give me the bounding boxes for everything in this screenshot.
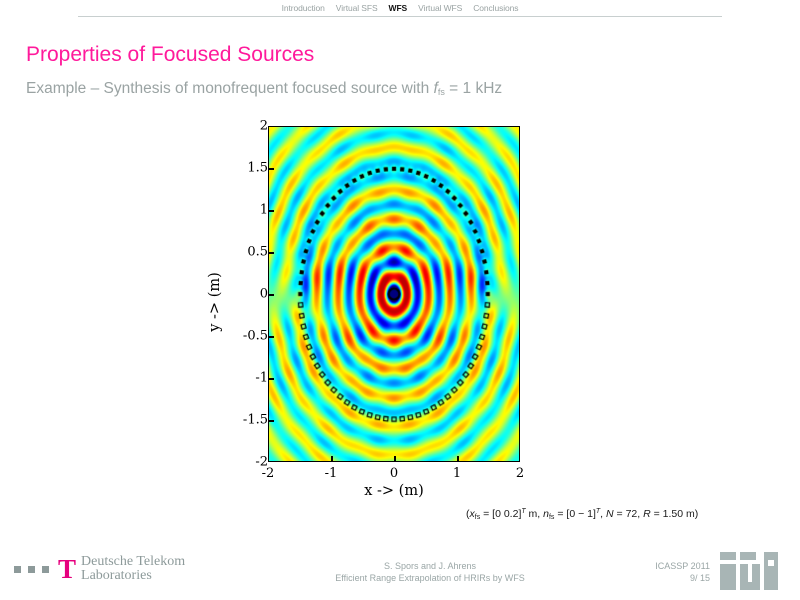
footer-center: S. Spors and J. Ahrens Efficient Range E…: [250, 560, 610, 584]
ytick-label-1: 1: [228, 203, 268, 218]
subtitle-text-after: = 1 kHz: [445, 80, 502, 97]
page-subtitle: Example – Synthesis of monofrequent focu…: [26, 80, 502, 98]
nav-item-wfs[interactable]: WFS: [389, 2, 408, 14]
footer-right: ICASSP 2011 9/ 15: [600, 560, 710, 584]
logo-line-2: Laboratories: [81, 569, 185, 583]
xtick-label--2: -2: [248, 466, 288, 481]
xtick-mark-1: [457, 456, 459, 462]
logo-square-icon-2: [28, 566, 35, 573]
ytick-mark-0: [268, 294, 274, 296]
xtick-mark--1: [331, 456, 333, 462]
logo-wordmark: Deutsche Telekom Laboratories: [81, 555, 185, 583]
nav-item-conclusions[interactable]: Conclusions: [473, 2, 518, 14]
ytick-label--0.5: -0.5: [228, 329, 268, 344]
logo-square-icon-1: [14, 566, 21, 573]
ytick-mark--1.5: [268, 420, 274, 422]
deutsche-telekom-logo: T Deutsche Telekom Laboratories: [14, 552, 185, 586]
subtitle-symbol-subscript: fs: [438, 87, 445, 97]
caption-N-symbol: N: [606, 508, 614, 520]
footer-page-number: 9/ 15: [600, 572, 710, 584]
wavefield-heatmap: [269, 127, 519, 461]
logo-line-1: Deutsche Telekom: [81, 555, 185, 569]
caption-R-symbol: R: [643, 508, 651, 520]
ytick-label--1.5: -1.5: [228, 413, 268, 428]
figure-caption: (xfs = [0 0.2]T m, nfs = [0 − 1]T, N = 7…: [466, 508, 698, 521]
y-axis-label: y -> (m): [207, 247, 223, 357]
nav-item-introduction[interactable]: Introduction: [282, 2, 325, 14]
xtick-label-1: 1: [437, 466, 477, 481]
xtick-label--1: -1: [311, 466, 351, 481]
nav-item-virtual-sfs[interactable]: Virtual SFS: [336, 2, 378, 14]
ytick-mark--1: [268, 378, 274, 380]
page-title: Properties of Focused Sources: [26, 43, 314, 67]
ytick-mark-0.5: [268, 252, 274, 254]
ytick-label-2: 2: [228, 119, 268, 134]
caption-unit1: m,: [526, 508, 544, 520]
wavefield-figure: 2 1.5 1 0.5 0 -0.5 -1 -1.5 -2 -2 -1 0 1 …: [180, 118, 620, 508]
slide-navigation: Introduction Virtual SFS WFS Virtual WFS…: [0, 0, 800, 20]
footer-conference: ICASSP 2011: [600, 560, 710, 572]
xtick-label-2: 2: [500, 466, 540, 481]
ytick-label--1: -1: [228, 371, 268, 386]
navigation-divider: [78, 16, 722, 17]
xtick-mark-0: [394, 456, 396, 462]
ytick-label-0: 0: [228, 287, 268, 302]
ytick-mark-1: [268, 210, 274, 212]
caption-R-value: = 1.50 m): [651, 508, 699, 520]
logo-square-icon-3: [42, 566, 49, 573]
plot-area: [268, 126, 520, 462]
caption-eq1: = [0 0.2]: [480, 508, 521, 520]
caption-N-value: = 72,: [614, 508, 643, 520]
xtick-label-0: 0: [374, 466, 414, 481]
caption-eq2: = [0 − 1]: [554, 508, 595, 520]
ytick-mark--0.5: [268, 336, 274, 338]
tu-berlin-logo-icon: [718, 548, 780, 594]
footer-authors: S. Spors and J. Ahrens: [250, 560, 610, 572]
subtitle-text-before: Example – Synthesis of monofrequent focu…: [26, 80, 434, 97]
telekom-t-icon: T: [58, 556, 76, 582]
ytick-mark-1.5: [268, 168, 274, 170]
ytick-label-1.5: 1.5: [228, 161, 268, 176]
x-axis-label: x -> (m): [268, 483, 520, 499]
ytick-label-0.5: 0.5: [228, 245, 268, 260]
nav-item-virtual-wfs[interactable]: Virtual WFS: [418, 2, 462, 14]
footer-paper-title: Efficient Range Extrapolation of HRIRs b…: [250, 572, 610, 584]
